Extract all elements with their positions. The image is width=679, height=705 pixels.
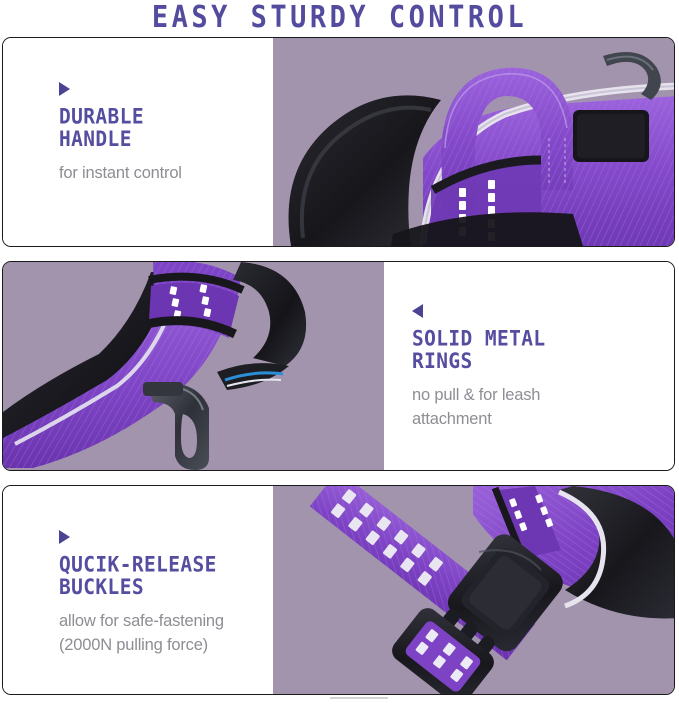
panel-1-subline: for instant control xyxy=(59,161,273,185)
panel-1-text-pane: DURABLE HANDLE for instant control xyxy=(3,38,273,246)
infographic-page: EASY STURDY CONTROL DURABLE HANDLE for i… xyxy=(0,0,679,705)
panel-2-headline: SOLID METAL RINGS xyxy=(412,327,674,372)
panel-3-text-pane: QUCIK-RELEASE BUCKLES allow for safe-fas… xyxy=(3,486,273,694)
triangle-right-icon xyxy=(59,530,70,544)
panel-3-subline: allow for safe-fastening (2000N pulling … xyxy=(59,609,273,657)
panel-3-headline: QUCIK-RELEASE BUCKLES xyxy=(59,553,273,598)
panel-2-subline: no pull & for leash attachment xyxy=(412,383,674,431)
panel-2-text-pane: SOLID METAL RINGS no pull & for leash at… xyxy=(384,262,674,470)
harness-metal-ring-illustration xyxy=(3,262,384,470)
triangle-left-icon xyxy=(412,304,423,318)
feature-panel-solid-metal-rings: SOLID METAL RINGS no pull & for leash at… xyxy=(2,261,675,471)
footer-divider xyxy=(330,697,388,699)
triangle-right-icon xyxy=(59,82,70,96)
feature-panel-quick-release-buckles: QUCIK-RELEASE BUCKLES allow for safe-fas… xyxy=(2,485,675,695)
page-title: EASY STURDY CONTROL xyxy=(0,0,679,36)
panel-1-photo xyxy=(273,38,674,246)
feature-panel-durable-handle: DURABLE HANDLE for instant control xyxy=(2,37,675,247)
panel-2-photo xyxy=(3,262,384,470)
harness-buckle-illustration xyxy=(273,486,674,694)
harness-handle-illustration xyxy=(273,38,674,246)
panel-1-headline: DURABLE HANDLE xyxy=(59,105,273,150)
panel-3-photo xyxy=(273,486,674,694)
